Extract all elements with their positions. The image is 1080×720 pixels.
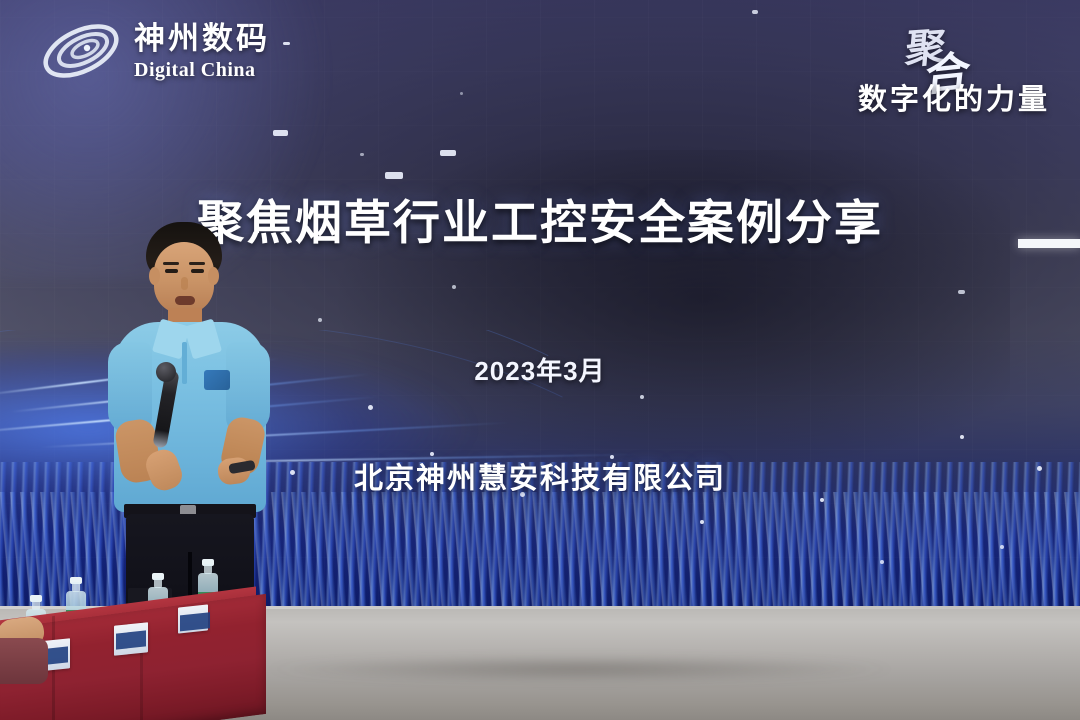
presenter [96, 222, 286, 612]
presenter-chest-logo [204, 370, 230, 390]
digital-china-logo: 神州数码 Digital China [38, 18, 270, 84]
particle [283, 42, 290, 45]
particle [385, 172, 403, 179]
particle [820, 498, 824, 502]
particle [700, 520, 704, 524]
name-card [178, 604, 208, 633]
particle [460, 92, 463, 95]
digital-china-swirl-icon [38, 18, 124, 84]
particle [318, 318, 322, 322]
presenter-eye-right [191, 269, 204, 273]
digital-china-wordmark: 神州数码 Digital China [134, 23, 270, 80]
presenter-ear-left [149, 267, 160, 285]
particle [960, 435, 964, 439]
particle [273, 130, 288, 136]
particle [752, 10, 758, 14]
foreground-attendee [0, 612, 56, 680]
particle [1000, 545, 1004, 549]
conference-photo: 神州数码 Digital China 聚 合 数字化的力量 聚焦烟草行业工控安全… [0, 0, 1080, 720]
presenter-ear-right [208, 267, 219, 285]
particle [452, 285, 456, 289]
particle [360, 153, 364, 156]
particle [440, 150, 456, 156]
name-card-band [180, 612, 210, 631]
particle [368, 405, 373, 410]
presenter-mouth [175, 296, 195, 305]
name-card [114, 622, 148, 656]
presenter-eyebrow-left [163, 262, 179, 265]
particle [640, 395, 644, 399]
name-card-band [116, 630, 146, 649]
floor-shadow [260, 656, 900, 682]
digital-china-en: Digital China [134, 60, 270, 80]
particle [958, 290, 965, 294]
attendee-body [0, 638, 48, 684]
presenter-shirt-placket [182, 342, 187, 384]
presenter-nose [181, 277, 188, 290]
presenter-eyebrow-right [189, 262, 205, 265]
particle [880, 560, 884, 564]
presenter-eye-left [165, 269, 178, 273]
digital-china-cn: 神州数码 [134, 23, 270, 54]
event-logo-tagline: 数字化的力量 [858, 76, 1050, 118]
event-logo: 聚 合 数字化的力量 [798, 14, 1058, 114]
